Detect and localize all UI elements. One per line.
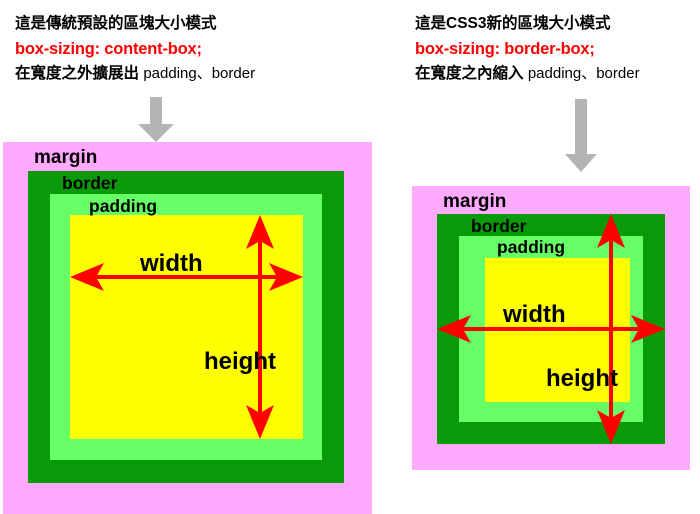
dimension-arrows	[0, 0, 700, 514]
height-label: height	[546, 367, 618, 391]
width-label: width	[503, 303, 566, 327]
